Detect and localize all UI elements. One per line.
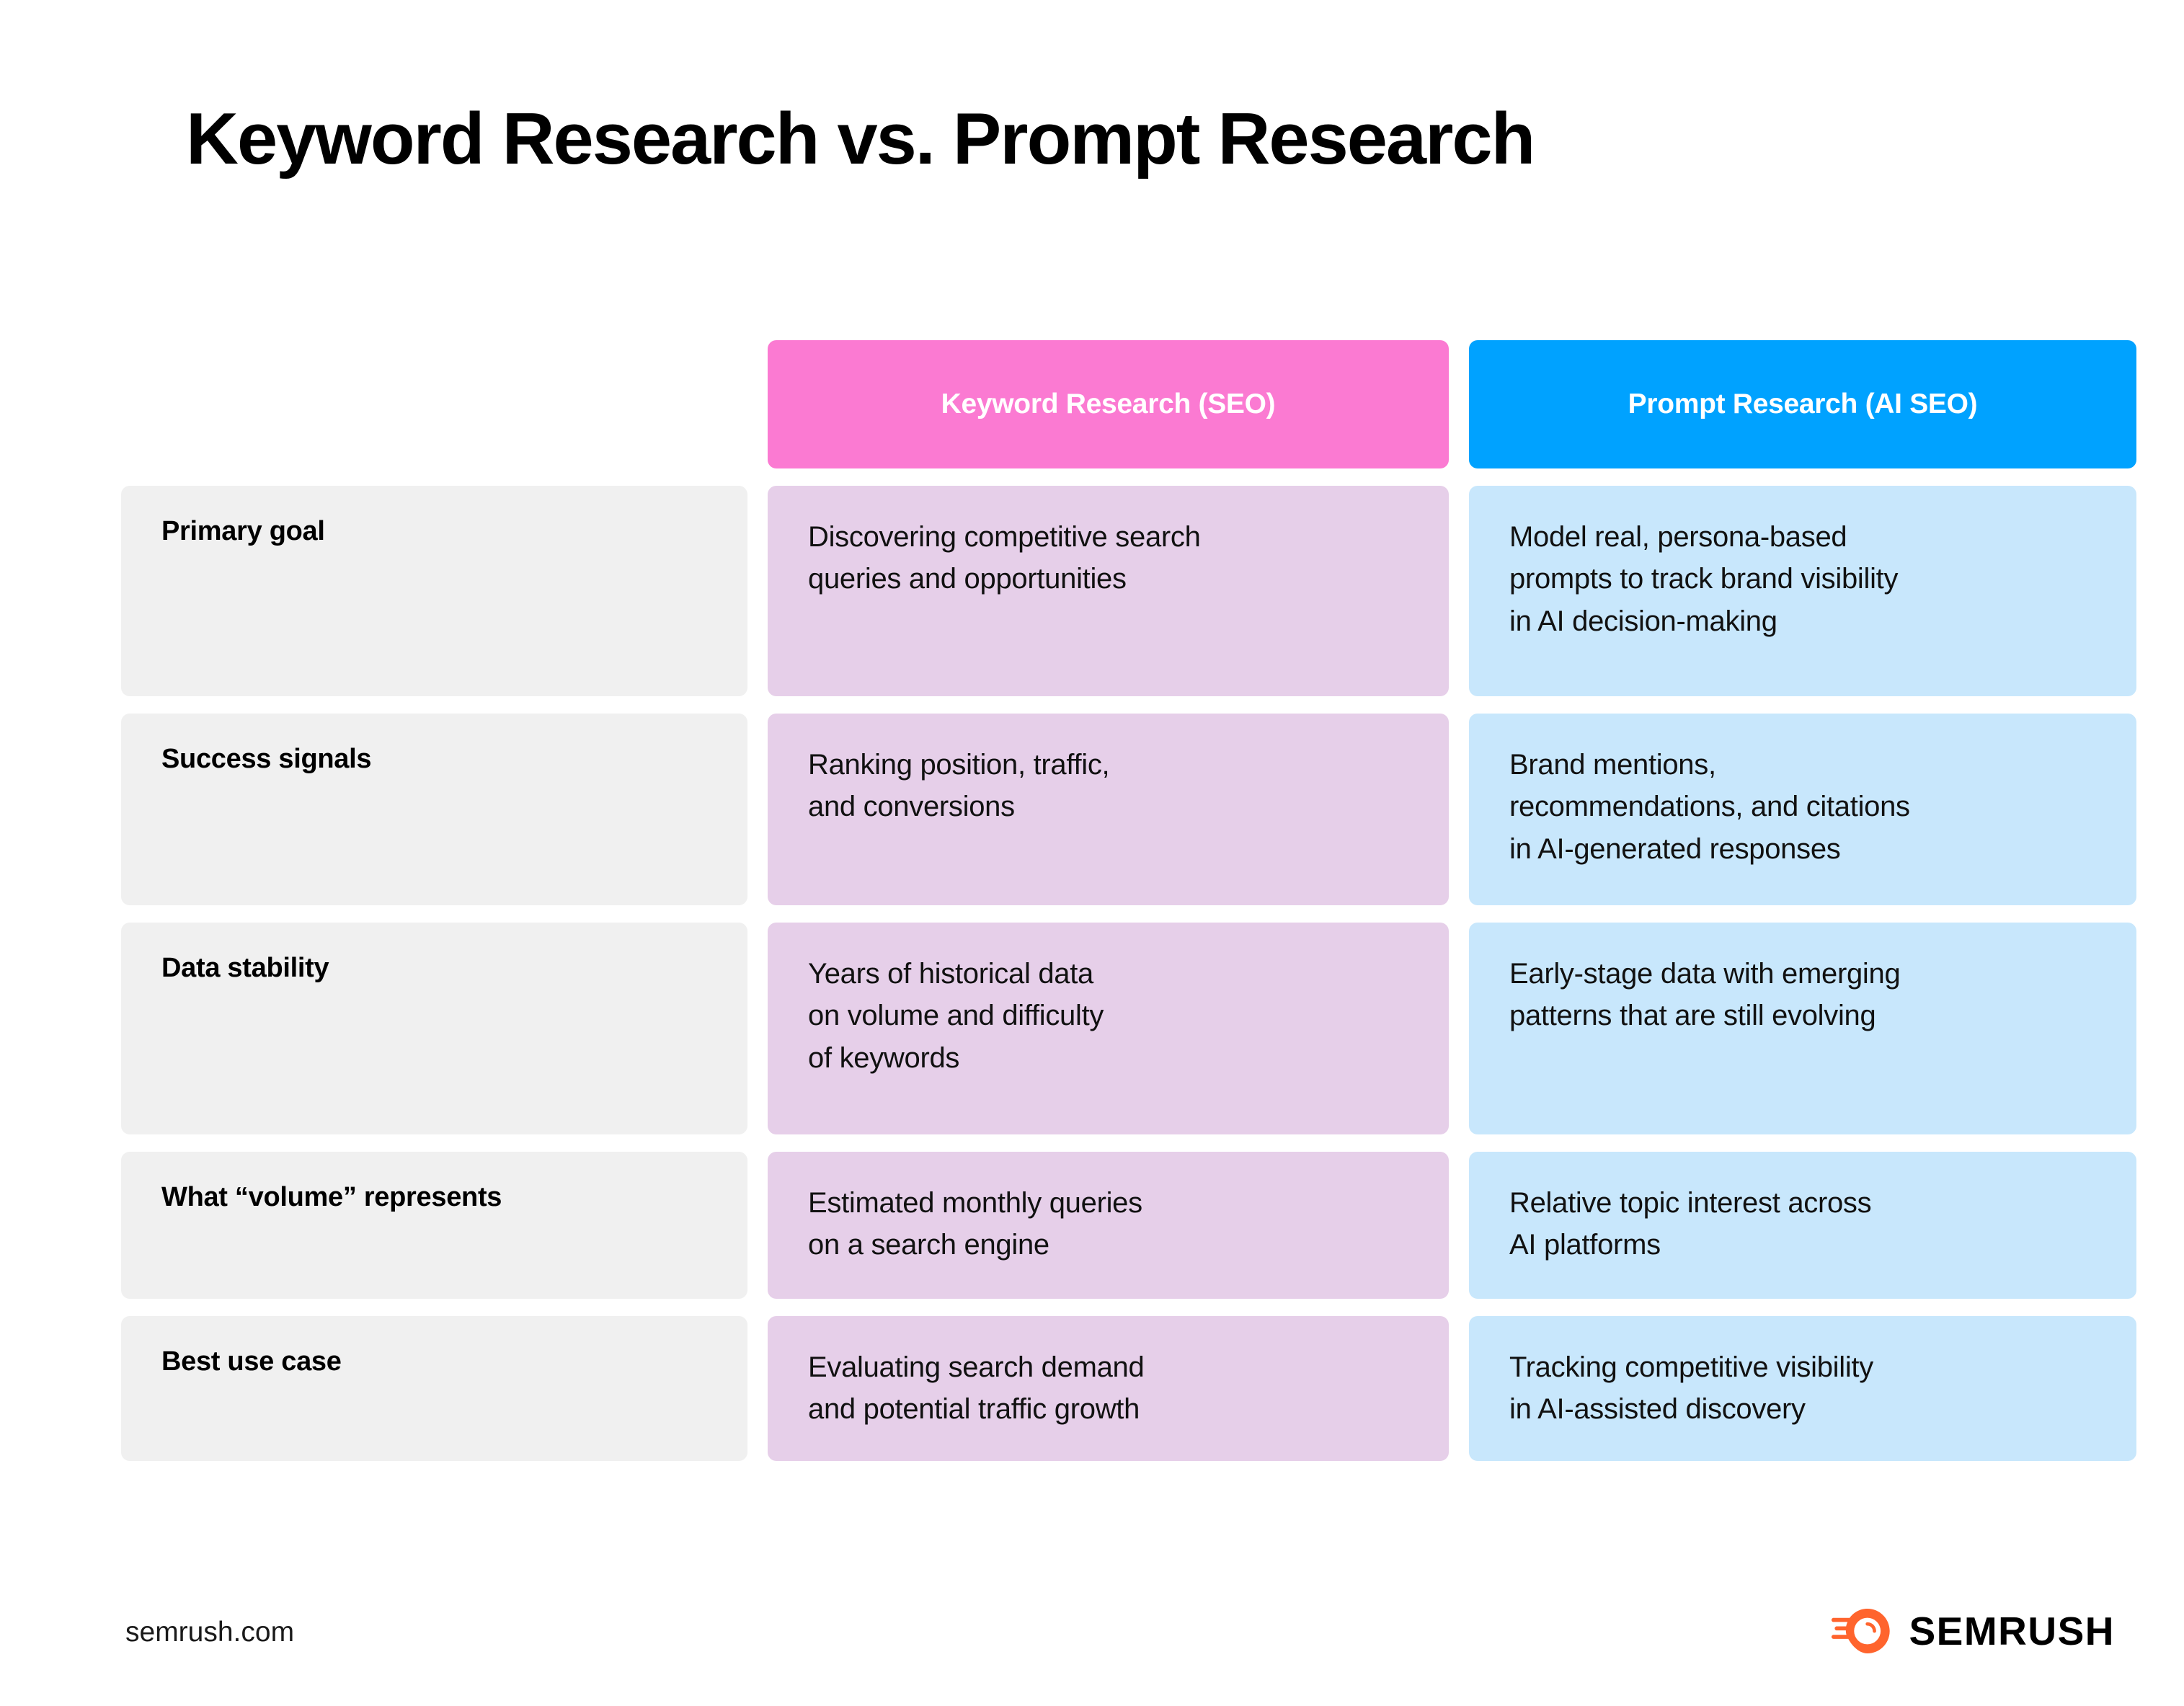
- cell-text: Discovering competitive search queries a…: [808, 516, 1201, 600]
- cell-text: Early-stage data with emerging patterns …: [1509, 953, 1900, 1037]
- footer-source-url: semrush.com: [125, 1617, 294, 1648]
- table-cell-prompt: Model real, persona-based prompts to tra…: [1469, 486, 2136, 696]
- cell-text: Model real, persona-based prompts to tra…: [1509, 516, 1898, 642]
- cell-text: Evaluating search demand and potential t…: [808, 1346, 1144, 1431]
- cell-text: Relative topic interest across AI platfo…: [1509, 1182, 1871, 1266]
- table-cell-prompt: Tracking competitive visibility in AI-as…: [1469, 1316, 2136, 1461]
- comparison-table: Keyword Research (SEO) Prompt Research (…: [121, 340, 2096, 1461]
- semrush-comet-icon: [1831, 1609, 1890, 1653]
- page-title: Keyword Research vs. Prompt Research: [186, 99, 1534, 179]
- cell-text: Ranking position, traffic, and conversio…: [808, 744, 1109, 828]
- cell-text: Estimated monthly queries on a search en…: [808, 1182, 1142, 1266]
- row-label-text: Data stability: [161, 953, 329, 984]
- table-row-label: Best use case: [121, 1316, 747, 1461]
- table-cell-prompt: Relative topic interest across AI platfo…: [1469, 1152, 2136, 1299]
- row-label-text: Primary goal: [161, 516, 325, 547]
- row-label-text: Best use case: [161, 1346, 342, 1377]
- table-cell-prompt: Early-stage data with emerging patterns …: [1469, 923, 2136, 1134]
- table-row-label: Primary goal: [121, 486, 747, 696]
- row-label-text: What “volume” represents: [161, 1182, 502, 1213]
- cell-text: Tracking competitive visibility in AI-as…: [1509, 1346, 1873, 1431]
- table-header-spacer: [121, 340, 747, 468]
- table-cell-keyword: Estimated monthly queries on a search en…: [768, 1152, 1449, 1299]
- table-cell-prompt: Brand mentions, recommendations, and cit…: [1469, 714, 2136, 905]
- cell-text: Years of historical data on volume and d…: [808, 953, 1104, 1079]
- cell-text: Brand mentions, recommendations, and cit…: [1509, 744, 1910, 870]
- column-header-keyword-research: Keyword Research (SEO): [768, 340, 1449, 468]
- row-label-text: Success signals: [161, 744, 371, 775]
- table-cell-keyword: Years of historical data on volume and d…: [768, 923, 1449, 1134]
- table-row-label: What “volume” represents: [121, 1152, 747, 1299]
- table-cell-keyword: Ranking position, traffic, and conversio…: [768, 714, 1449, 905]
- semrush-wordmark: SEMRUSH: [1909, 1612, 2115, 1651]
- table-row-label: Success signals: [121, 714, 747, 905]
- semrush-logo: SEMRUSH: [1831, 1609, 2115, 1653]
- table-cell-keyword: Discovering competitive search queries a…: [768, 486, 1449, 696]
- table-cell-keyword: Evaluating search demand and potential t…: [768, 1316, 1449, 1461]
- column-header-prompt-research: Prompt Research (AI SEO): [1469, 340, 2136, 468]
- table-row-label: Data stability: [121, 923, 747, 1134]
- infographic-page: Keyword Research vs. Prompt Research Key…: [0, 0, 2184, 1706]
